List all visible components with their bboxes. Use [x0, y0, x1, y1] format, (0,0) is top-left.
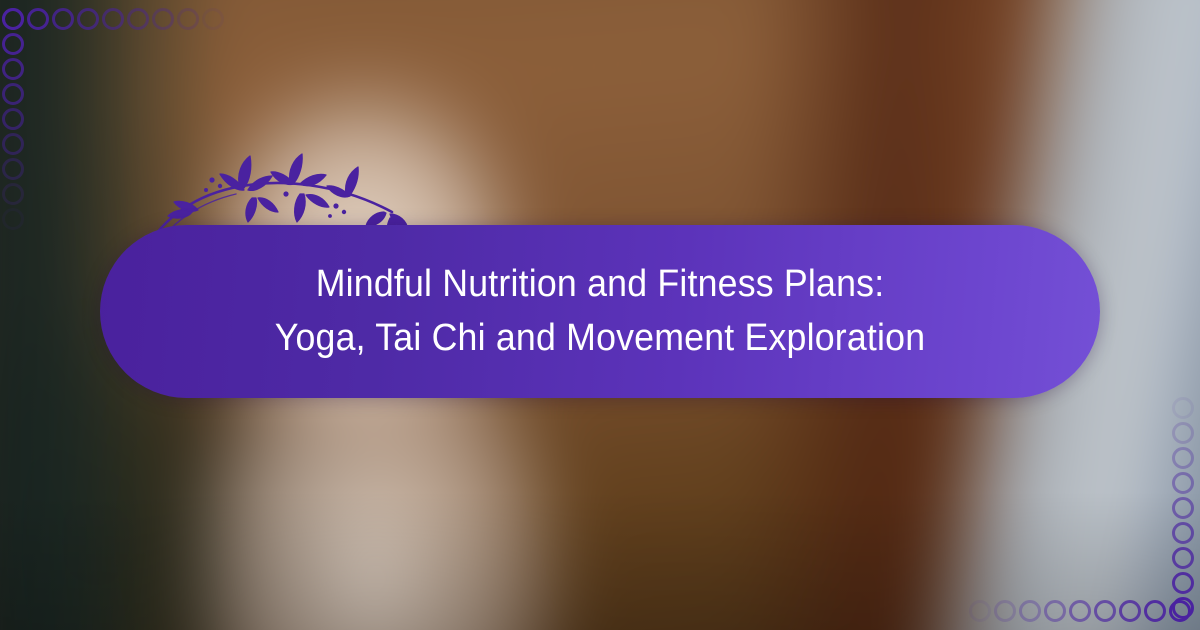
page-title: Mindful Nutrition and Fitness Plans: Yog…	[218, 258, 981, 366]
title-line-1: Mindful Nutrition and Fitness Plans:	[275, 258, 926, 312]
title-line-2: Yoga, Tai Chi and Movement Exploration	[275, 312, 926, 366]
title-banner: Mindful Nutrition and Fitness Plans: Yog…	[100, 225, 1100, 398]
title-card-canvas: Mindful Nutrition and Fitness Plans: Yog…	[0, 0, 1200, 630]
